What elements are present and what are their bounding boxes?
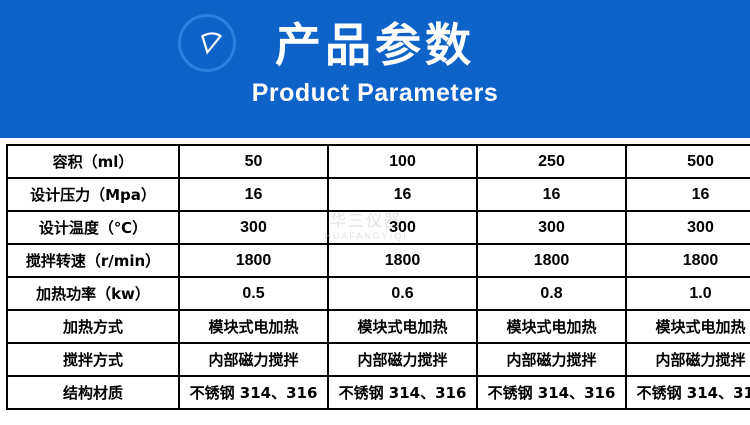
row-value: 内部磁力搅拌 <box>626 343 750 376</box>
row-value: 16 <box>626 178 750 211</box>
row-label: 搅拌方式 <box>7 343 179 376</box>
row-value: 1800 <box>328 244 477 277</box>
row-label: 加热功率（kw） <box>7 277 179 310</box>
row-value: 内部磁力搅拌 <box>477 343 626 376</box>
page-header: ⌔ 产品参数 Product Parameters <box>0 0 750 138</box>
row-value: 300 <box>626 211 750 244</box>
row-value: 1800 <box>477 244 626 277</box>
table-row: 搅拌转速（r/min）1800180018001800 <box>7 244 750 277</box>
row-value: 不锈钢 314、316 <box>477 376 626 409</box>
table-row: 加热方式模块式电加热模块式电加热模块式电加热模块式电加热 <box>7 310 750 343</box>
row-value: 1.0 <box>626 277 750 310</box>
row-value: 模块式电加热 <box>477 310 626 343</box>
page-title-en: Product Parameters <box>252 78 499 108</box>
row-value: 不锈钢 314、316 <box>328 376 477 409</box>
row-value: 1800 <box>626 244 750 277</box>
row-label: 设计压力（Mpa） <box>7 178 179 211</box>
logo-glyph: ⌔ <box>187 25 227 63</box>
row-value: 0.8 <box>477 277 626 310</box>
row-value: 模块式电加热 <box>179 310 328 343</box>
row-value: 300 <box>328 211 477 244</box>
parameters-table-body: 容积（ml）50100250500设计压力（Mpa）16161616设计温度（℃… <box>7 145 750 409</box>
page-title-cn: 产品参数 <box>275 18 475 72</box>
table-row: 设计压力（Mpa）16161616 <box>7 178 750 211</box>
row-value: 50 <box>179 145 328 178</box>
row-value: 0.5 <box>179 277 328 310</box>
row-label: 结构材质 <box>7 376 179 409</box>
row-value: 内部磁力搅拌 <box>179 343 328 376</box>
row-label: 搅拌转速（r/min） <box>7 244 179 277</box>
table-row: 设计温度（℃）300300300300 <box>7 211 750 244</box>
table-row: 结构材质不锈钢 314、316不锈钢 314、316不锈钢 314、316不锈钢… <box>7 376 750 409</box>
row-value: 16 <box>179 178 328 211</box>
table-row: 加热功率（kw）0.50.60.81.0 <box>7 277 750 310</box>
row-label: 容积（ml） <box>7 145 179 178</box>
row-label: 设计温度（℃） <box>7 211 179 244</box>
table-row: 容积（ml）50100250500 <box>7 145 750 178</box>
parameters-table: 容积（ml）50100250500设计压力（Mpa）16161616设计温度（℃… <box>6 144 750 410</box>
row-value: 16 <box>328 178 477 211</box>
company-logo-icon: ⌔ <box>178 14 240 76</box>
row-label: 加热方式 <box>7 310 179 343</box>
row-value: 模块式电加热 <box>626 310 750 343</box>
parameters-table-wrapper: 容积（ml）50100250500设计压力（Mpa）16161616设计温度（℃… <box>0 144 750 410</box>
row-value: 内部磁力搅拌 <box>328 343 477 376</box>
row-value: 0.6 <box>328 277 477 310</box>
row-value: 500 <box>626 145 750 178</box>
table-row: 搅拌方式内部磁力搅拌内部磁力搅拌内部磁力搅拌内部磁力搅拌 <box>7 343 750 376</box>
row-value: 300 <box>179 211 328 244</box>
row-value: 模块式电加热 <box>328 310 477 343</box>
row-value: 不锈钢 314、316 <box>626 376 750 409</box>
row-value: 不锈钢 314、316 <box>179 376 328 409</box>
row-value: 250 <box>477 145 626 178</box>
row-value: 100 <box>328 145 477 178</box>
product-parameters-page: ⌔ 产品参数 Product Parameters 华三仪器 HUAFANGYI… <box>0 0 750 425</box>
row-value: 300 <box>477 211 626 244</box>
row-value: 16 <box>477 178 626 211</box>
row-value: 1800 <box>179 244 328 277</box>
